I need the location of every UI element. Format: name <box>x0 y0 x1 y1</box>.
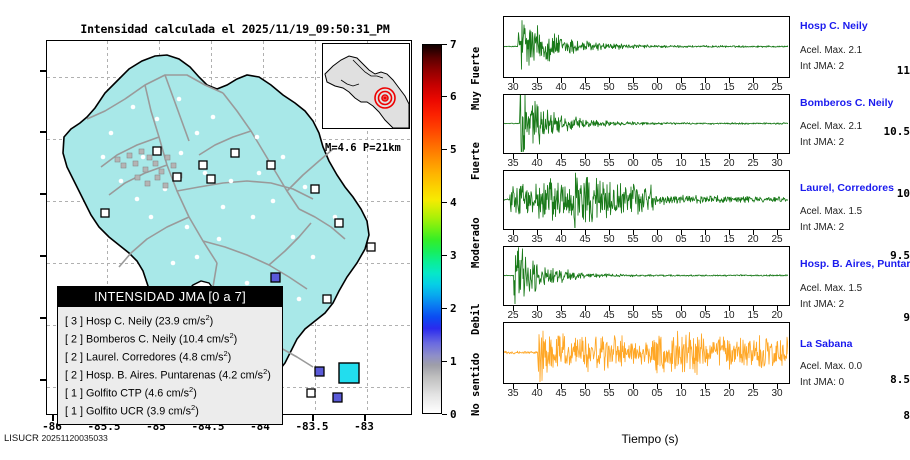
legend-title: INTENSIDAD JMA [0 a 7] <box>58 287 282 307</box>
axis-label: 50 <box>598 82 620 93</box>
axis-label: 15 <box>718 82 740 93</box>
axis-label: 00 <box>646 234 668 245</box>
axis-label: 00 <box>622 388 644 399</box>
station-name-4: Hosp. B. Aires, Puntare <box>800 258 910 270</box>
axis-label: 35 <box>502 388 524 399</box>
axis-label: 20 <box>742 234 764 245</box>
axis-label: 20 <box>742 82 764 93</box>
axis-label: 55 <box>622 234 644 245</box>
axis-label: 30 <box>502 82 524 93</box>
map-y-tick <box>40 317 46 319</box>
colorbar-label: 5 <box>450 143 457 156</box>
map-y-label: 8 <box>870 409 910 422</box>
legend-unit: cm/s <box>201 352 224 364</box>
station-intensity-4: Int JMA: 2 <box>800 299 844 310</box>
station-name-2: Bomberos C. Neily <box>800 97 893 109</box>
colorbar-category: Debil <box>470 303 482 335</box>
colorbar-label: 1 <box>450 355 457 368</box>
axis-label: 35 <box>526 234 548 245</box>
axis-label: 55 <box>598 388 620 399</box>
legend-level: [ 2 ] <box>65 352 83 364</box>
station-accel-1: Acel. Max. 2.1 <box>800 45 862 56</box>
seismogram-axis-3: 30 35 40 45 50 55 00 05 10 15 20 25 <box>503 230 790 246</box>
legend-unit: cm/s <box>183 316 206 328</box>
station-accel-4: Acel. Max. 1.5 <box>800 283 862 294</box>
seismogram-panel-2[interactable] <box>503 94 790 154</box>
colorbar-label: 6 <box>450 90 457 103</box>
colorbar-tick <box>442 149 447 150</box>
axis-label: 40 <box>574 310 596 321</box>
station-accel-5: Acel. Max. 0.0 <box>800 361 862 372</box>
axis-label: 45 <box>574 234 596 245</box>
axis-label: 20 <box>718 388 740 399</box>
colorbar-label: 0 <box>450 408 457 421</box>
station-marker-golfito-ctp[interactable] <box>271 273 280 282</box>
legend-unit: cm/s <box>168 406 191 418</box>
axis-label: 30 <box>502 234 524 245</box>
seismogram-axis-4: 25 30 35 40 45 50 55 00 05 10 15 20 <box>503 306 790 322</box>
axis-label: 05 <box>670 82 692 93</box>
map-y-tick <box>40 193 46 195</box>
station-name-5: La Sabana <box>800 338 853 350</box>
map-y-label: 9 <box>870 311 910 324</box>
axis-label: 45 <box>550 388 572 399</box>
footer-code: 20251120035033 <box>41 433 107 443</box>
legend-accel: 3.9 <box>150 406 165 418</box>
seismogram-axis-5: 35 40 45 50 55 00 05 10 15 20 25 30 <box>503 384 790 400</box>
axis-label: 15 <box>718 234 740 245</box>
legend-level: [ 1 ] <box>65 388 83 400</box>
station-marker-golfito-ucr[interactable] <box>315 367 324 376</box>
legend-station: Hosp C. Neily <box>86 316 152 328</box>
legend-level: [ 3 ] <box>65 316 83 328</box>
legend-accel: 4.8 <box>183 352 198 364</box>
legend-accel: 23.9 <box>159 316 180 328</box>
locator-inset-map[interactable] <box>322 43 410 129</box>
map-y-tick <box>40 255 46 257</box>
axis-label: 55 <box>646 310 668 321</box>
axis-label: 10 <box>670 158 692 169</box>
station-intensity-2: Int JMA: 2 <box>800 137 844 148</box>
axis-label: 10 <box>670 388 692 399</box>
axis-label: 30 <box>526 310 548 321</box>
axis-label: 55 <box>598 158 620 169</box>
map-y-label: 11 <box>870 64 910 77</box>
colorbar-tick <box>442 255 447 256</box>
legend-accel: 4.2 <box>222 370 237 382</box>
axis-label: 40 <box>526 158 548 169</box>
axis-label: 40 <box>550 234 572 245</box>
axis-label: 50 <box>574 158 596 169</box>
colorbar-category: Moderado <box>470 217 482 268</box>
legend-station: Hosp. B. Aires. Puntarenas <box>86 370 216 382</box>
legend-row: [ 2 ] Hosp. B. Aires. Puntarenas (4.2 cm… <box>65 365 276 383</box>
station-marker-laurel[interactable] <box>333 393 342 402</box>
legend-unit: cm/s <box>240 370 263 382</box>
axis-label: 35 <box>526 82 548 93</box>
axis-label: 05 <box>646 388 668 399</box>
axis-label: 05 <box>694 310 716 321</box>
colorbar-label: 2 <box>450 302 457 315</box>
axis-label: 15 <box>694 158 716 169</box>
axis-label: 10 <box>694 82 716 93</box>
map-x-label: -83.5 <box>282 420 342 433</box>
legend-station: Bomberos C. Neily <box>86 334 176 346</box>
station-intensity-3: Int JMA: 2 <box>800 222 844 233</box>
axis-label: 50 <box>574 388 596 399</box>
axis-label: 55 <box>622 82 644 93</box>
station-intensity-5: Int JMA: 0 <box>800 377 844 388</box>
axis-label: 05 <box>646 158 668 169</box>
colorbar-category: Muy Fuerte <box>470 47 482 110</box>
legend-accel: 10.4 <box>183 334 204 346</box>
map-y-label: 10.5 <box>870 125 910 138</box>
station-name-3: Laurel, Corredores <box>800 182 894 194</box>
epicenter-marker <box>375 88 395 108</box>
colorbar-tick <box>442 96 447 97</box>
legend-unit: cm/s <box>207 334 230 346</box>
map-y-label: 8.5 <box>870 373 910 386</box>
axis-label: 50 <box>622 310 644 321</box>
page-title: Intensidad calculada el 2025/11/19_09:50… <box>70 22 400 36</box>
legend-level: [ 1 ] <box>65 406 83 418</box>
station-name-1: Hosp C. Neily <box>800 20 868 32</box>
map-y-tick <box>40 70 46 72</box>
colorbar-label: 3 <box>450 249 457 262</box>
time-axis-label: Tiempo (s) <box>560 432 740 446</box>
legend-station: Golfito UCR <box>86 406 144 418</box>
axis-label: 35 <box>550 310 572 321</box>
axis-label: 10 <box>718 310 740 321</box>
axis-label: 05 <box>670 234 692 245</box>
seismogram-panel-4[interactable] <box>503 246 790 306</box>
colorbar-tick <box>442 308 447 309</box>
colorbar-label: 4 <box>450 196 457 209</box>
station-accel-3: Acel. Max. 1.5 <box>800 206 862 217</box>
legend-unit: cm/s <box>166 388 189 400</box>
legend-row: [ 1 ] Golfito CTP (4.6 cm/s2) <box>65 383 276 401</box>
axis-label: 45 <box>574 82 596 93</box>
colorbar-tick <box>442 361 447 362</box>
colorbar-category: No sentido <box>470 353 482 416</box>
axis-label: 30 <box>766 388 788 399</box>
axis-label: 45 <box>598 310 620 321</box>
seismogram-panel-3[interactable] <box>503 170 790 230</box>
legend-row: [ 1 ] Golfito UCR (3.9 cm/s2) <box>65 401 276 419</box>
axis-label: 25 <box>742 158 764 169</box>
axis-label: 40 <box>550 82 572 93</box>
axis-label: 20 <box>718 158 740 169</box>
axis-label: 45 <box>550 158 572 169</box>
axis-label: 40 <box>526 388 548 399</box>
colorbar-tick <box>442 202 447 203</box>
legend-row: [ 3 ] Hosp C. Neily (23.9 cm/s2) <box>65 311 276 329</box>
axis-label: 00 <box>646 82 668 93</box>
axis-label: 25 <box>502 310 524 321</box>
colorbar-category: Fuerte <box>470 142 482 180</box>
axis-label: 50 <box>598 234 620 245</box>
legend-accel: 4.6 <box>148 388 163 400</box>
seismogram-axis-1: 30 35 40 45 50 55 00 05 10 15 20 25 <box>503 78 790 94</box>
map-y-tick <box>40 379 46 381</box>
axis-label: 35 <box>502 158 524 169</box>
station-accel-2: Acel. Max. 2.1 <box>800 121 862 132</box>
legend-row: [ 2 ] Bomberos C. Neily (10.4 cm/s2) <box>65 329 276 347</box>
axis-label: 25 <box>766 82 788 93</box>
legend-station: Golfito CTP <box>86 388 142 400</box>
legend-station: Laurel. Corredores <box>86 352 176 364</box>
axis-label: 00 <box>670 310 692 321</box>
colorbar-label: 7 <box>450 38 457 51</box>
station-marker-hosp-c-neily[interactable] <box>339 363 359 383</box>
axis-label: 20 <box>766 310 788 321</box>
waveform-5 <box>504 323 788 382</box>
intensity-legend: INTENSIDAD JMA [0 a 7] [ 3 ] Hosp C. Nei… <box>57 286 283 425</box>
magnitude-annotation: M=4.6 P=21km <box>325 142 401 154</box>
legend-level: [ 2 ] <box>65 334 83 346</box>
waveform-4 <box>504 247 788 304</box>
station-intensity-1: Int JMA: 2 <box>800 61 844 72</box>
legend-row: [ 2 ] Laurel. Corredores (4.8 cm/s2) <box>65 347 276 365</box>
footer-agency: LISUCR <box>4 433 39 444</box>
colorbar-tick <box>442 414 447 415</box>
map-y-tick <box>40 131 46 133</box>
axis-label: 25 <box>766 234 788 245</box>
colorbar-tick <box>442 44 447 45</box>
intensity-colorbar <box>422 44 442 414</box>
axis-label: 10 <box>694 234 716 245</box>
seismogram-panel-5[interactable] <box>503 322 790 384</box>
axis-label: 30 <box>766 158 788 169</box>
waveform-3 <box>504 171 788 228</box>
seismogram-axis-2: 35 40 45 50 55 00 05 10 15 20 25 30 <box>503 154 790 170</box>
axis-label: 25 <box>742 388 764 399</box>
legend-rows: [ 3 ] Hosp C. Neily (23.9 cm/s2) [ 2 ] B… <box>58 307 282 424</box>
waveform-2 <box>504 95 788 152</box>
footer: LISUCR 20251120035033 <box>4 433 108 444</box>
waveform-1 <box>504 17 788 76</box>
map-x-label: -83 <box>334 420 394 433</box>
legend-level: [ 2 ] <box>65 370 83 382</box>
seismogram-panel-1[interactable] <box>503 16 790 78</box>
axis-label: 15 <box>742 310 764 321</box>
axis-label: 00 <box>622 158 644 169</box>
axis-label: 15 <box>694 388 716 399</box>
inset-graphic <box>323 44 409 128</box>
